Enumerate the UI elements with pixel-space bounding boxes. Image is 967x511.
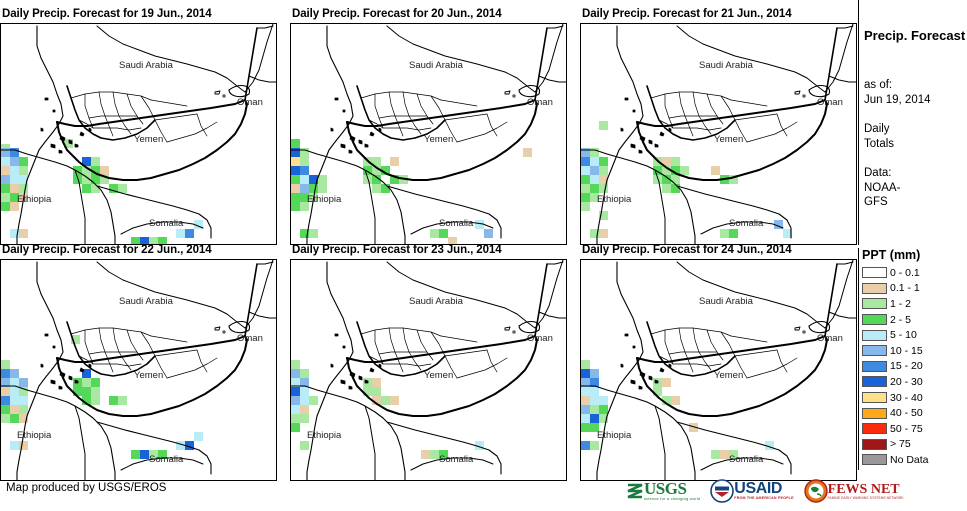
map-frame[interactable]: Saudi ArabiaOmanYemenEthiopiaSomalia xyxy=(290,23,567,245)
map-label-somalia: Somalia xyxy=(149,454,183,465)
legend-title: PPT (mm) xyxy=(862,248,967,262)
map-canvas: Saudi ArabiaOmanYemenEthiopiaSomalia xyxy=(581,260,856,480)
data-label: Data: xyxy=(864,166,966,181)
map-canvas: Saudi ArabiaOmanYemenEthiopiaSomalia xyxy=(291,24,566,244)
map-label-ethiopia: Ethiopia xyxy=(17,194,51,205)
map-panel-title: Daily Precip. Forecast for 21 Jun., 2014 xyxy=(582,8,792,20)
legend-item: 5 - 10 xyxy=(858,327,967,343)
legend-item: 0 - 0.1 xyxy=(858,265,967,281)
usaid-seal-icon xyxy=(710,479,734,503)
legend-item: 10 - 15 xyxy=(858,343,967,359)
map-frame[interactable]: Saudi ArabiaOmanYemenEthiopiaSomalia xyxy=(0,259,277,481)
legend-swatch xyxy=(862,283,887,294)
usaid-tagline: FROM THE AMERICAN PEOPLE xyxy=(734,496,793,500)
map-label-somalia: Somalia xyxy=(439,454,473,465)
map-frame[interactable]: Saudi ArabiaOmanYemenEthiopiaSomalia xyxy=(290,259,567,481)
map-panel-title: Daily Precip. Forecast for 24 Jun., 2014 xyxy=(582,244,792,256)
usaid-wordmark: USAID xyxy=(734,482,793,496)
map-label-yemen: Yemen xyxy=(424,370,453,381)
map-label-saudi-arabia: Saudi Arabia xyxy=(699,60,753,71)
legend-item: 20 - 30 xyxy=(858,374,967,390)
legend-swatch xyxy=(862,439,887,450)
legend-label: 2 - 5 xyxy=(890,314,911,326)
map-label-yemen: Yemen xyxy=(424,134,453,145)
sidebar-title: Precip. Forecast xyxy=(864,28,966,43)
fewsnet-wordmark: FEWS NET xyxy=(828,483,904,496)
legend-item: 0.1 - 1 xyxy=(858,281,967,297)
legend-swatch xyxy=(862,314,887,325)
map-label-oman: Oman xyxy=(817,333,843,344)
map-label-oman: Oman xyxy=(817,97,843,108)
legend-swatch xyxy=(862,267,887,278)
sidebar-totals: Daily Totals xyxy=(864,122,966,151)
map-panel-title: Daily Precip. Forecast for 23 Jun., 2014 xyxy=(292,244,502,256)
sidebar-data-source: Data: NOAA- GFS xyxy=(864,166,966,210)
legend-label: 40 - 50 xyxy=(890,407,923,419)
legend-item: 2 - 5 xyxy=(858,312,967,328)
map-label-ethiopia: Ethiopia xyxy=(307,194,341,205)
map-label-saudi-arabia: Saudi Arabia xyxy=(119,60,173,71)
map-canvas: Saudi ArabiaOmanYemenEthiopiaSomalia xyxy=(291,260,566,480)
fewsnet-logo: FEWS NET FAMINE EARLY WARNING SYSTEMS NE… xyxy=(804,477,904,505)
map-label-saudi-arabia: Saudi Arabia xyxy=(409,296,463,307)
map-label-yemen: Yemen xyxy=(714,134,743,145)
legend-item: 50 - 75 xyxy=(858,421,967,437)
legend-item: 15 - 20 xyxy=(858,359,967,375)
legend-label: 0.1 - 1 xyxy=(890,282,920,294)
sidebar-as-of: as of: Jun 19, 2014 xyxy=(864,78,966,107)
sidebar-divider-top xyxy=(858,0,859,245)
map-frame[interactable]: Saudi ArabiaOmanYemenEthiopiaSomalia xyxy=(580,23,857,245)
map-label-saudi-arabia: Saudi Arabia xyxy=(699,296,753,307)
legend-swatch xyxy=(862,376,887,387)
usaid-logo: USAID FROM THE AMERICAN PEOPLE xyxy=(710,477,793,505)
map-label-oman: Oman xyxy=(527,97,553,108)
map-frame[interactable]: Saudi ArabiaOmanYemenEthiopiaSomalia xyxy=(580,259,857,481)
map-canvas: Saudi ArabiaOmanYemenEthiopiaSomalia xyxy=(581,24,856,244)
legend-swatch xyxy=(862,454,887,465)
map-label-saudi-arabia: Saudi Arabia xyxy=(409,60,463,71)
totals-line-1: Daily xyxy=(864,122,966,137)
legend-label: > 75 xyxy=(890,438,911,450)
map-frame[interactable]: Saudi ArabiaOmanYemenEthiopiaSomalia xyxy=(0,23,277,245)
as-of-label: as of: xyxy=(864,78,966,93)
map-canvas: Saudi ArabiaOmanYemenEthiopiaSomalia xyxy=(1,24,276,244)
totals-line-2: Totals xyxy=(864,137,966,152)
map-label-oman: Oman xyxy=(237,333,263,344)
legend-item: 40 - 50 xyxy=(858,405,967,421)
legend-label: 1 - 2 xyxy=(890,298,911,310)
usgs-mark-icon xyxy=(626,481,644,501)
map-panel-title: Daily Precip. Forecast for 19 Jun., 2014 xyxy=(2,8,212,20)
legend-swatch xyxy=(862,330,887,341)
legend-label: 15 - 20 xyxy=(890,360,923,372)
legend-label: 30 - 40 xyxy=(890,392,923,404)
legend-swatch xyxy=(862,423,887,434)
map-label-saudi-arabia: Saudi Arabia xyxy=(119,296,173,307)
map-label-yemen: Yemen xyxy=(714,370,743,381)
sidebar: Precip. Forecast as of: Jun 19, 2014 Dai… xyxy=(858,0,967,511)
fewsnet-tagline: FAMINE EARLY WARNING SYSTEMS NETWORK xyxy=(828,496,904,500)
legend-label: 10 - 15 xyxy=(890,345,923,357)
map-label-oman: Oman xyxy=(527,333,553,344)
map-label-somalia: Somalia xyxy=(439,218,473,229)
usgs-tagline: science for a changing world xyxy=(644,496,700,501)
precip-forecast-map-page: Daily Precip. Forecast for 19 Jun., 2014… xyxy=(0,0,967,511)
map-label-somalia: Somalia xyxy=(149,218,183,229)
legend-label: 5 - 10 xyxy=(890,329,917,341)
legend: PPT (mm) 0 - 0.10.1 - 11 - 22 - 55 - 101… xyxy=(858,248,967,468)
legend-swatch xyxy=(862,408,887,419)
footer-credit: Map produced by USGS/EROS xyxy=(6,482,166,494)
legend-item: > 75 xyxy=(858,437,967,453)
map-label-somalia: Somalia xyxy=(729,218,763,229)
fewsnet-globe-icon xyxy=(804,479,828,503)
usgs-wordmark: USGS xyxy=(644,481,700,496)
legend-label: 50 - 75 xyxy=(890,423,923,435)
legend-swatch xyxy=(862,345,887,356)
agency-logos: USGS science for a changing world USAID … xyxy=(626,476,904,506)
map-label-yemen: Yemen xyxy=(134,370,163,381)
legend-item: 1 - 2 xyxy=(858,296,967,312)
map-label-ethiopia: Ethiopia xyxy=(597,430,631,441)
map-label-oman: Oman xyxy=(237,97,263,108)
map-label-somalia: Somalia xyxy=(729,454,763,465)
legend-swatch xyxy=(862,298,887,309)
legend-item: 30 - 40 xyxy=(858,390,967,406)
legend-item: No Data xyxy=(858,452,967,468)
legend-label: No Data xyxy=(890,454,929,466)
legend-rows: 0 - 0.10.1 - 11 - 22 - 55 - 1010 - 1515 … xyxy=(858,265,967,468)
map-panel-title: Daily Precip. Forecast for 22 Jun., 2014 xyxy=(2,244,212,256)
data-line-2: GFS xyxy=(864,195,966,210)
map-label-yemen: Yemen xyxy=(134,134,163,145)
usgs-logo: USGS science for a changing world xyxy=(626,477,700,505)
legend-swatch xyxy=(862,361,887,372)
legend-swatch xyxy=(862,392,887,403)
map-panel-title: Daily Precip. Forecast for 20 Jun., 2014 xyxy=(292,8,502,20)
map-canvas: Saudi ArabiaOmanYemenEthiopiaSomalia xyxy=(1,260,276,480)
map-label-ethiopia: Ethiopia xyxy=(597,194,631,205)
legend-label: 20 - 30 xyxy=(890,376,923,388)
data-line-1: NOAA- xyxy=(864,181,966,196)
legend-label: 0 - 0.1 xyxy=(890,267,920,279)
map-label-ethiopia: Ethiopia xyxy=(307,430,341,441)
as-of-date: Jun 19, 2014 xyxy=(864,93,966,108)
map-label-ethiopia: Ethiopia xyxy=(17,430,51,441)
